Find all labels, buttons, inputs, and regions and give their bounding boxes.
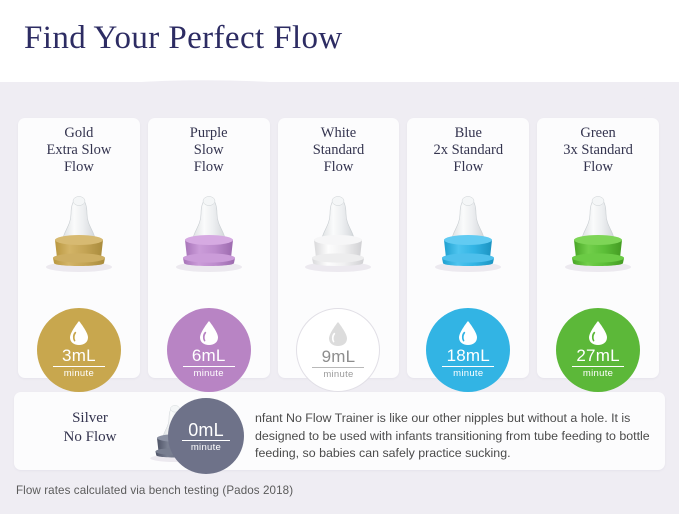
flow-rate-value: 9mL bbox=[322, 348, 356, 366]
flow-speed: Extra Slow bbox=[18, 142, 140, 159]
divider-rule bbox=[442, 366, 494, 367]
flow-card-green[interactable]: Green 3x Standard Flow bbox=[537, 118, 659, 378]
divider-rule bbox=[182, 440, 230, 441]
flow-rate-value: 18mL bbox=[447, 347, 490, 365]
flow-word: Flow bbox=[407, 159, 529, 176]
flow-rate-circle-blue: 18mL minute bbox=[426, 308, 510, 392]
flow-card-purple[interactable]: Purple Slow Flow bbox=[148, 118, 270, 378]
flow-speed: Slow bbox=[148, 142, 270, 159]
infographic-poster: Find Your Perfect Flow Gold Extra Slow F… bbox=[0, 0, 679, 514]
flow-rate-value: 27mL bbox=[576, 347, 619, 365]
flow-card-blue[interactable]: Blue 2x Standard Flow bbox=[407, 118, 529, 378]
droplet-icon bbox=[198, 320, 220, 346]
flow-name: Blue bbox=[407, 125, 529, 142]
page-title: Find Your Perfect Flow bbox=[24, 20, 343, 57]
no-flow-heading: Silver No Flow bbox=[42, 409, 138, 447]
droplet-icon bbox=[587, 320, 609, 346]
flow-word: Flow bbox=[278, 159, 400, 176]
flow-rate-value: 0mL bbox=[188, 421, 224, 439]
flow-word: Flow bbox=[18, 159, 140, 176]
card-heading: Green 3x Standard Flow bbox=[537, 125, 659, 176]
flow-rate-unit: minute bbox=[323, 369, 353, 380]
flow-card-gold[interactable]: Gold Extra Slow Flow bbox=[18, 118, 140, 378]
flow-rate-unit: minute bbox=[194, 368, 224, 379]
flow-rate-circle-purple: 6mL minute bbox=[167, 308, 251, 392]
card-heading: Gold Extra Slow Flow bbox=[18, 125, 140, 176]
no-flow-description: nfant No Flow Trainer is like our other … bbox=[255, 410, 665, 463]
flow-card-row: Gold Extra Slow Flow bbox=[18, 118, 659, 378]
flow-card-white[interactable]: White Standard Flow bbox=[278, 118, 400, 378]
flow-rate-unit: minute bbox=[191, 442, 221, 453]
nipple-image-purple bbox=[157, 190, 261, 274]
footnote: Flow rates calculated via bench testing … bbox=[16, 484, 293, 497]
nipple-image-gold bbox=[27, 190, 131, 274]
flow-rate-unit: minute bbox=[64, 368, 94, 379]
wave-divider bbox=[0, 74, 679, 112]
flow-rate-value: 3mL bbox=[62, 347, 96, 365]
droplet-icon bbox=[68, 320, 90, 346]
flow-rate-circle-white: 9mL minute bbox=[296, 308, 380, 392]
flow-rate-unit: minute bbox=[453, 368, 483, 379]
no-flow-name: Silver bbox=[42, 409, 138, 428]
divider-rule bbox=[53, 366, 105, 367]
card-heading: White Standard Flow bbox=[278, 125, 400, 176]
card-heading: Blue 2x Standard Flow bbox=[407, 125, 529, 176]
flow-name: Purple bbox=[148, 125, 270, 142]
card-heading: Purple Slow Flow bbox=[148, 125, 270, 176]
flow-word: Flow bbox=[537, 159, 659, 176]
flow-rate-circle-gold: 3mL minute bbox=[37, 308, 121, 392]
droplet-icon bbox=[457, 320, 479, 346]
nipple-image-white bbox=[286, 190, 390, 274]
flow-rate-circle-green: 27mL minute bbox=[556, 308, 640, 392]
flow-speed: Standard bbox=[278, 142, 400, 159]
divider-rule bbox=[183, 366, 235, 367]
flow-word: Flow bbox=[148, 159, 270, 176]
flow-speed: 2x Standard bbox=[407, 142, 529, 159]
flow-rate-circle-no-flow: 0mL minute bbox=[168, 398, 244, 474]
flow-rate-unit: minute bbox=[583, 368, 613, 379]
droplet-icon bbox=[327, 321, 349, 347]
no-flow-desc-line: No Flow bbox=[42, 428, 138, 447]
divider-rule bbox=[572, 366, 624, 367]
divider-rule bbox=[312, 367, 364, 368]
nipple-image-green bbox=[546, 190, 650, 274]
flow-rate-value: 6mL bbox=[192, 347, 226, 365]
flow-speed: 3x Standard bbox=[537, 142, 659, 159]
flow-name: Green bbox=[537, 125, 659, 142]
nipple-image-blue bbox=[416, 190, 520, 274]
flow-name: Gold bbox=[18, 125, 140, 142]
flow-name: White bbox=[278, 125, 400, 142]
